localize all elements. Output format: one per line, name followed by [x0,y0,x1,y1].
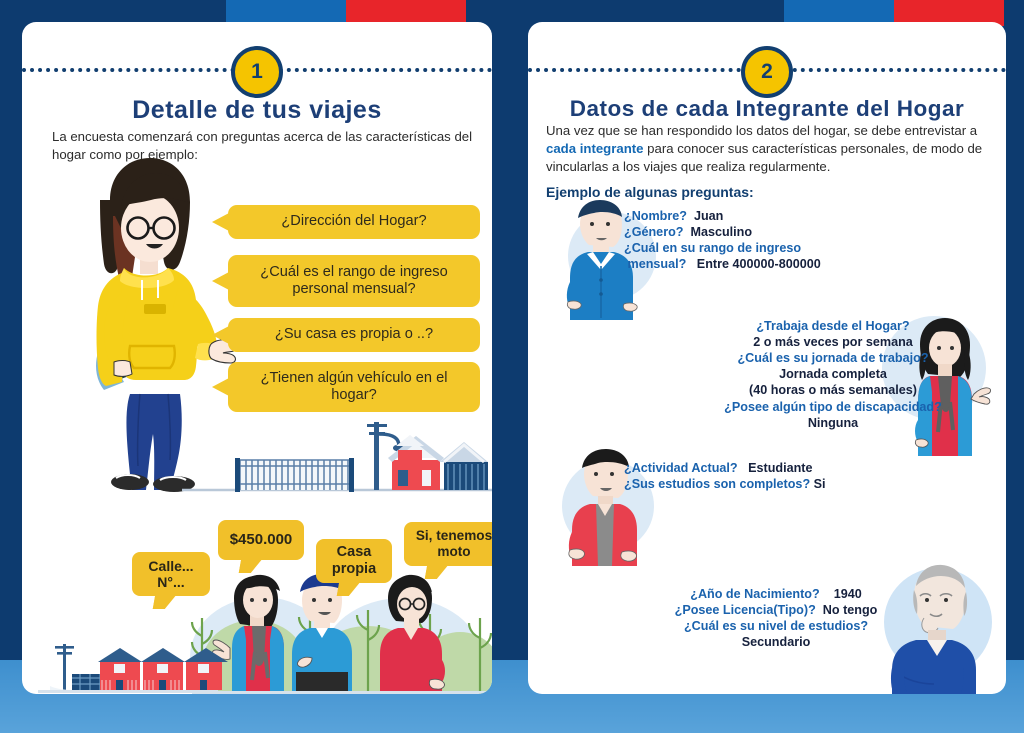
qa-answer: 1940 [834,587,862,601]
qa-line: ¿Cuál en su rango de ingreso [624,240,884,256]
qa-line: Secundario [646,634,906,650]
qa-question: ¿Nombre? [624,209,687,223]
intro-highlight: cada integrante [546,141,643,156]
qa-answer: Jornada completa [779,367,887,381]
qa-question: ¿Sus estudios son completos? [624,477,810,491]
question-bubble-2: ¿Cuál es el rango de ingreso personal me… [228,255,480,307]
qa-question: ¿Cuál en su rango de ingreso [624,241,801,255]
qa-question: ¿Posee Licencia(Tipo)? [675,603,816,617]
panel-card-1: 1 Detalle de tus viajes La encuesta come… [22,22,492,694]
panel-1-title: Detalle de tus viajes [22,96,492,125]
qa-line: ¿Actividad Actual? Estudiante [624,460,894,476]
qa-line: (40 horas o más semanales) [708,382,958,398]
answer-bubble-1: Calle... N°... [132,552,210,596]
qa-block-3: ¿Actividad Actual? Estudiante ¿Sus estud… [624,460,894,492]
qa-line: ¿Nombre? Juan [624,208,884,224]
qa-answer: Juan [694,209,723,223]
qa-line: Jornada completa [708,366,958,382]
panel-card-2: 2 Datos de cada Integrante del Hogar Una… [528,22,1006,694]
qa-question: ¿Posee algún tipo de discapacidad? [724,400,942,414]
qa-question: ¿Año de Nacimiento? [690,587,819,601]
qa-line: ¿Posee Licencia(Tipo)? No tengo [646,602,906,618]
step-badge-1: 1 [231,46,283,98]
question-bubble-1: ¿Dirección del Hogar? [228,205,480,239]
qa-line: ¿Sus estudios son completos? Si [624,476,894,492]
qa-question: ¿Cuál es su nivel de estudios? [684,619,868,633]
illustration-town-houses [38,622,218,694]
qa-block-2: ¿Trabaja desde el Hogar? 2 o más veces p… [708,318,958,431]
qa-question: ¿Trabaja desde el Hogar? [756,319,909,333]
qa-answer: Masculino [690,225,752,239]
answer-bubble-4: Si, tenemos moto [404,522,492,566]
qa-question: ¿Cuál es su jornada de trabajo? [737,351,928,365]
qa-answer: Si [814,477,826,491]
qa-line: ¿Año de Nacimiento? 1940 [646,586,906,602]
qa-line: ¿Cuál es su jornada de trabajo? [708,350,958,366]
qa-answer: Entre 400000-800000 [697,257,821,271]
answer-bubble-3: Casa propia [316,539,392,583]
qa-question: ¿Actividad Actual? [624,461,738,475]
qa-answer: Estudiante [748,461,812,475]
qa-line: Ninguna [708,415,958,431]
step-badge-2: 2 [741,46,793,98]
answer-bubble-2: $450.000 [218,520,304,560]
intro-text-part1: Una vez que se han respondido los datos … [546,123,977,138]
qa-answer: 2 o más veces por semana [753,335,913,349]
qa-line: ¿Posee algún tipo de discapacidad? [708,399,958,415]
qa-line: ¿Trabaja desde el Hogar? [708,318,958,334]
qa-answer: No tengo [823,603,878,617]
qa-answer: Secundario [742,635,811,649]
qa-line: ¿Cuál es su nivel de estudios? [646,618,906,634]
question-bubble-3: ¿Su casa es propia o ..? [228,318,480,352]
qa-block-1: ¿Nombre? Juan ¿Género? Masculino ¿Cuál e… [624,208,884,272]
qa-question: ¿Género? [624,225,683,239]
qa-question: mensual? [628,257,687,271]
question-bubble-4: ¿Tienen algún vehículo en el hogar? [228,362,480,412]
qa-line: 2 o más veces por semana [708,334,958,350]
illustration-street-houses [182,410,492,496]
qa-line: mensual? Entre 400000-800000 [624,256,884,272]
qa-line: ¿Género? Masculino [624,224,884,240]
qa-answer: (40 horas o más semanales) [749,383,917,397]
panel-2-title: Datos de cada Integrante del Hogar [528,96,1006,122]
qa-block-4: ¿Año de Nacimiento? 1940 ¿Posee Licencia… [646,586,906,650]
panel-2-intro: Una vez que se han respondido los datos … [546,122,988,175]
qa-answer: Ninguna [808,416,858,430]
